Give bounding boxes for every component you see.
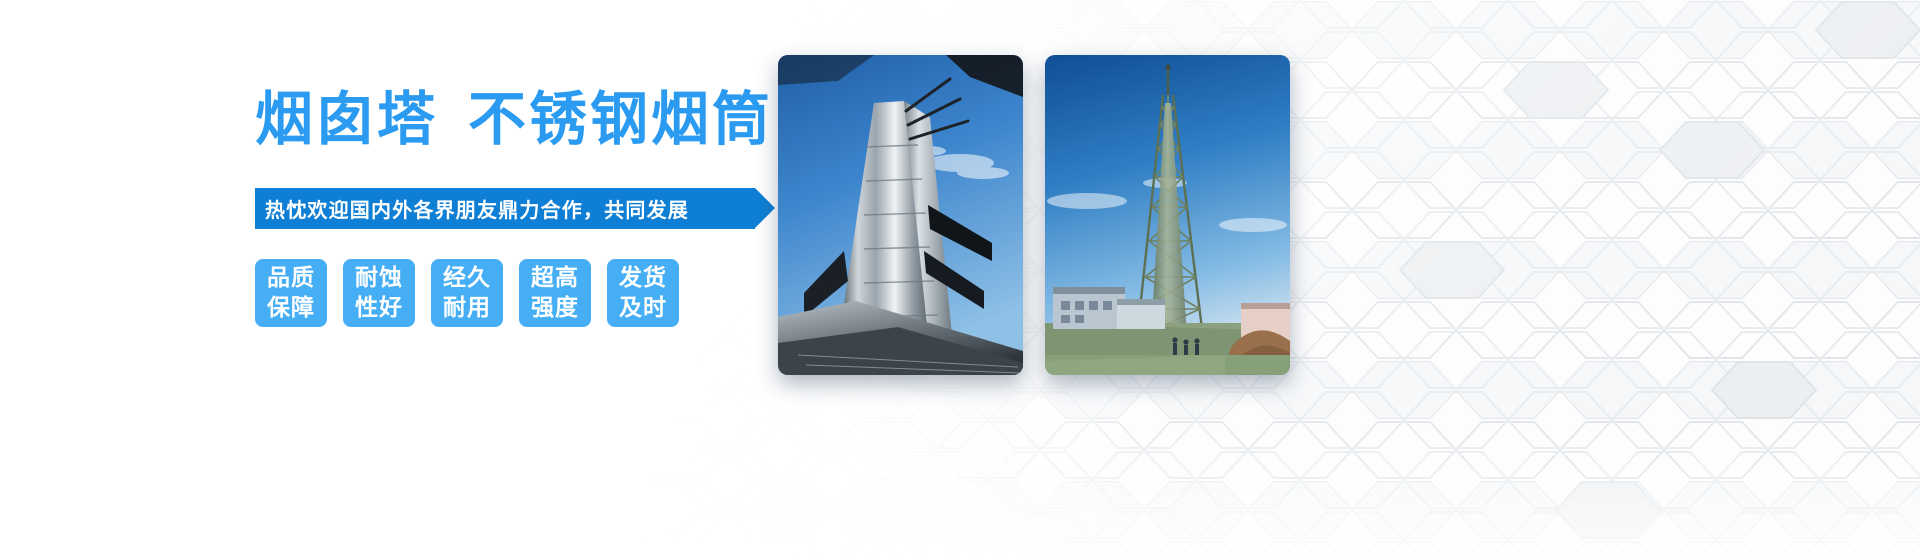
tag-line-2: 性好 — [355, 293, 403, 323]
feature-tag-durability[interactable]: 经久 耐用 — [431, 259, 503, 327]
subtitle-banner: 热忱欢迎国内外各界朋友鼎力合作，共同发展 — [255, 188, 755, 229]
subtitle-text: 热忱欢迎国内外各界朋友鼎力合作，共同发展 — [265, 194, 689, 223]
headline-part-1: 烟囱塔 — [255, 85, 438, 153]
tag-line-2: 耐用 — [443, 293, 491, 323]
feature-tag-delivery[interactable]: 发货 及时 — [607, 259, 679, 327]
tag-line-1: 经久 — [443, 263, 491, 293]
tag-line-1: 发货 — [619, 263, 667, 293]
feature-tag-quality[interactable]: 品质 保障 — [255, 259, 327, 327]
tag-line-2: 保障 — [267, 293, 315, 323]
tag-line-2: 强度 — [531, 293, 579, 323]
feature-tag-strength[interactable]: 超高 强度 — [519, 259, 591, 327]
promo-banner: 烟囱塔不锈钢烟筒 热忱欢迎国内外各界朋友鼎力合作，共同发展 品质 保障 耐蚀 性… — [0, 0, 1920, 555]
tag-line-1: 品质 — [267, 263, 315, 293]
tag-line-2: 及时 — [619, 293, 667, 323]
stainless-steel-chimney-photo[interactable] — [778, 55, 1023, 375]
tag-line-1: 超高 — [531, 263, 579, 293]
feature-tag-corrosion-resistance[interactable]: 耐蚀 性好 — [343, 259, 415, 327]
tag-line-1: 耐蚀 — [355, 263, 403, 293]
headline-part-2: 不锈钢烟筒 — [468, 85, 773, 153]
banner-photo-gallery — [778, 55, 1290, 375]
chimney-tower-photo[interactable] — [1045, 55, 1290, 375]
